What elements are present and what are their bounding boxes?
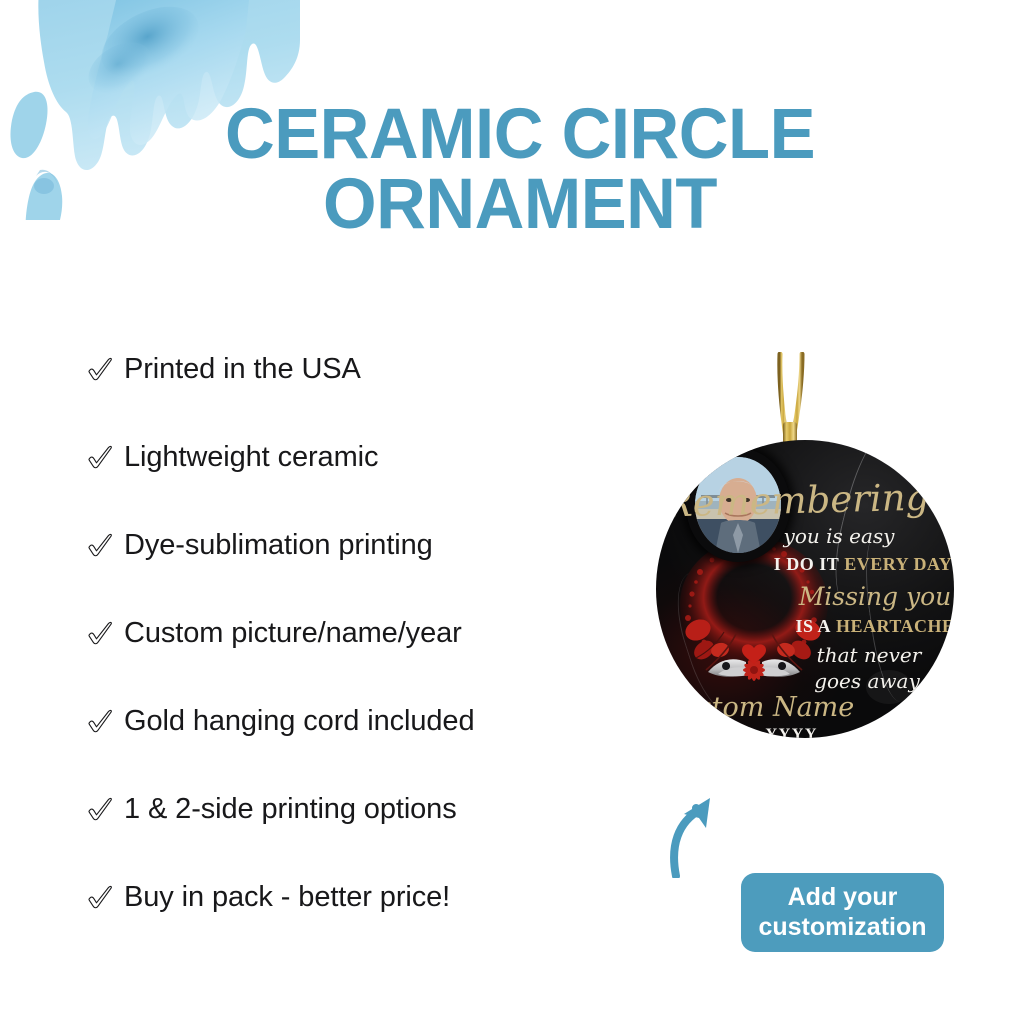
list-item-label: Printed in the USA	[124, 353, 361, 386]
page-title: CERAMIC CIRCLE ORNAMENT	[161, 100, 879, 241]
list-item-label: Lightweight ceramic	[124, 441, 378, 474]
list-item: Buy in pack - better price!	[86, 853, 606, 941]
add-customization-label: Add your customization	[758, 883, 926, 942]
check-icon	[86, 882, 116, 912]
list-item: Custom picture/name/year	[86, 589, 606, 677]
cta-line-1: Add your	[788, 883, 898, 911]
photo-frame	[686, 448, 790, 562]
check-icon	[86, 794, 116, 824]
list-item: 1 & 2-side printing options	[86, 765, 606, 853]
check-icon	[86, 618, 116, 648]
floral-decor	[674, 538, 834, 688]
ornament-disc: Remembering you is easy I DO IT EVERY DA…	[656, 440, 954, 738]
check-icon	[86, 706, 116, 736]
check-icon	[86, 530, 116, 560]
check-icon	[86, 354, 116, 384]
product-image-ornament: Remembering you is easy I DO IT EVERY DA…	[648, 352, 960, 772]
list-item-label: Gold hanging cord included	[124, 705, 474, 738]
list-item: Gold hanging cord included	[86, 677, 606, 765]
list-item: Lightweight ceramic	[86, 413, 606, 501]
list-item-label: Dye-sublimation printing	[124, 529, 433, 562]
customer-photo	[695, 457, 781, 553]
list-item-label: Custom picture/name/year	[124, 617, 462, 650]
title-line-1: CERAMIC CIRCLE	[161, 100, 879, 170]
title-line-2: ORNAMENT	[161, 170, 879, 240]
portrait-photo	[695, 457, 781, 553]
floral-photo-frame	[674, 538, 834, 688]
list-item-label: 1 & 2-side printing options	[124, 793, 457, 826]
ornament-custom-name: Custom Name	[656, 692, 906, 723]
list-item: Dye-sublimation printing	[86, 501, 606, 589]
list-item-label: Buy in pack - better price!	[124, 881, 450, 914]
check-icon	[86, 442, 116, 472]
curved-arrow-icon	[666, 796, 750, 878]
cta-line-2: customization	[758, 913, 926, 941]
list-item: Printed in the USA	[86, 325, 606, 413]
ornament-years: YYYY - YYYY	[656, 726, 906, 738]
add-customization-button[interactable]: Add your customization	[741, 873, 944, 952]
feature-list: Printed in the USA Lightweight ceramic D…	[86, 325, 606, 941]
